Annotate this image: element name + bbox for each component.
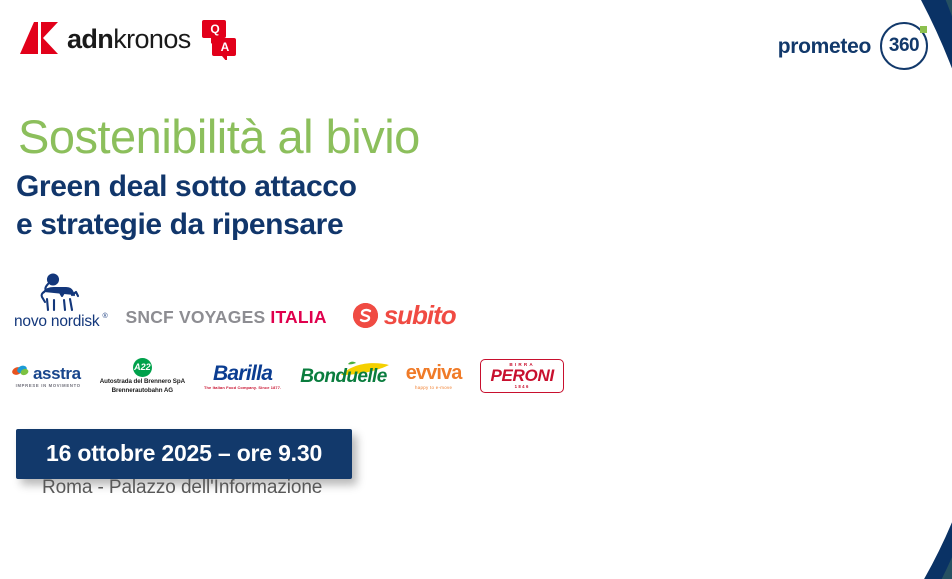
- event-venue: Roma - Palazzo dell'Informazione: [42, 477, 322, 499]
- asstra-top: asstra: [12, 364, 81, 382]
- prometeo-green-square-accent: [920, 26, 927, 33]
- sponsor-logo-birra-peroni[interactable]: BIRRA PERONI 1846: [480, 359, 563, 394]
- sponsor-logo-barilla[interactable]: Barilla The Italian Food Company. Since …: [204, 363, 281, 390]
- sponsor-logo-bonduelle[interactable]: Bonduelle: [300, 367, 386, 386]
- asstra-leaf-icon: [12, 364, 29, 382]
- page-subtitle-line2: e strategie da ripensare: [16, 206, 357, 244]
- poster-canvas: adnkronos Q A prometeo 360 Sostenibilità…: [0, 0, 952, 579]
- prometeo-360-number: 360: [889, 35, 919, 57]
- adnkronos-wordmark: adnkronos: [67, 26, 191, 53]
- sncf-italia-label: ITALIA: [270, 307, 326, 327]
- page-subtitle-line1: Green deal sotto attacco: [16, 168, 357, 206]
- peroni-wordmark: PERONI: [490, 367, 553, 385]
- adnkronos-mark-icon: [18, 20, 60, 58]
- subito-circle-icon: [353, 303, 378, 328]
- prometeo-wordmark: prometeo: [778, 36, 871, 57]
- sncf-label: SNCF VOYAGES: [125, 307, 265, 327]
- a22-badge-icon: A22: [133, 358, 152, 377]
- sponsor-row-primary: novo nordisk® SNCF VOYAGES ITALIA subito: [14, 268, 456, 330]
- sponsor-logo-subito[interactable]: subito: [353, 302, 456, 328]
- novo-nordisk-wordmark: novo nordisk®: [14, 313, 99, 330]
- event-date-banner: 16 ottobre 2025 – ore 9.30: [16, 429, 352, 479]
- sponsor-logo-novo-nordisk[interactable]: novo nordisk®: [14, 273, 99, 330]
- sponsor-row-secondary: asstra IMPRESE IN MOVIMENTO A22 Autostra…: [12, 356, 564, 396]
- novo-nordisk-bull-icon: [30, 273, 84, 313]
- barilla-tagline: The Italian Food Company. Since 1877.: [204, 385, 281, 390]
- svg-text:Q: Q: [210, 22, 219, 36]
- adnkronos-logo[interactable]: adnkronos Q A: [18, 18, 240, 60]
- sponsor-logo-evviva[interactable]: evviva happy to e-move: [406, 363, 462, 390]
- evviva-wordmark: evviva: [406, 363, 462, 383]
- sponsor-logo-asstra[interactable]: asstra IMPRESE IN MOVIMENTO: [12, 364, 81, 388]
- novo-nordisk-registered-mark: ®: [103, 313, 108, 321]
- asstra-wordmark: asstra: [33, 365, 81, 382]
- sponsor-logo-autostrada-del-brennero[interactable]: A22 Autostrada del Brennero SpA Brennera…: [100, 358, 185, 395]
- prometeo-360-circle-icon: 360: [880, 22, 928, 70]
- page-title: Sostenibilità al bivio: [18, 112, 420, 161]
- subito-wordmark: subito: [384, 302, 456, 328]
- autostrada-line1: Autostrada del Brennero SpA: [100, 378, 185, 386]
- peroni-year: 1846: [515, 385, 530, 389]
- evviva-tagline: happy to e-move: [415, 385, 452, 390]
- sponsor-logo-sncf-voyages-italia[interactable]: SNCF VOYAGES ITALIA: [125, 307, 326, 328]
- bonduelle-wordmark: Bonduelle: [300, 367, 386, 386]
- svg-text:A: A: [220, 40, 229, 54]
- prometeo-360-logo[interactable]: prometeo 360: [778, 22, 928, 70]
- page-subtitle: Green deal sotto attacco e strategie da …: [16, 168, 357, 245]
- barilla-wordmark: Barilla: [213, 363, 272, 384]
- asstra-tagline: IMPRESE IN MOVIMENTO: [12, 383, 81, 388]
- autostrada-line2: Brennerautobahn AG: [112, 387, 173, 395]
- adnkronos-qa-badge-icon: Q A: [196, 18, 240, 60]
- adnkronos-word-light: kronos: [113, 24, 190, 54]
- novo-nordisk-label: novo nordisk: [14, 313, 99, 330]
- adnkronos-word-bold: adn: [67, 24, 113, 54]
